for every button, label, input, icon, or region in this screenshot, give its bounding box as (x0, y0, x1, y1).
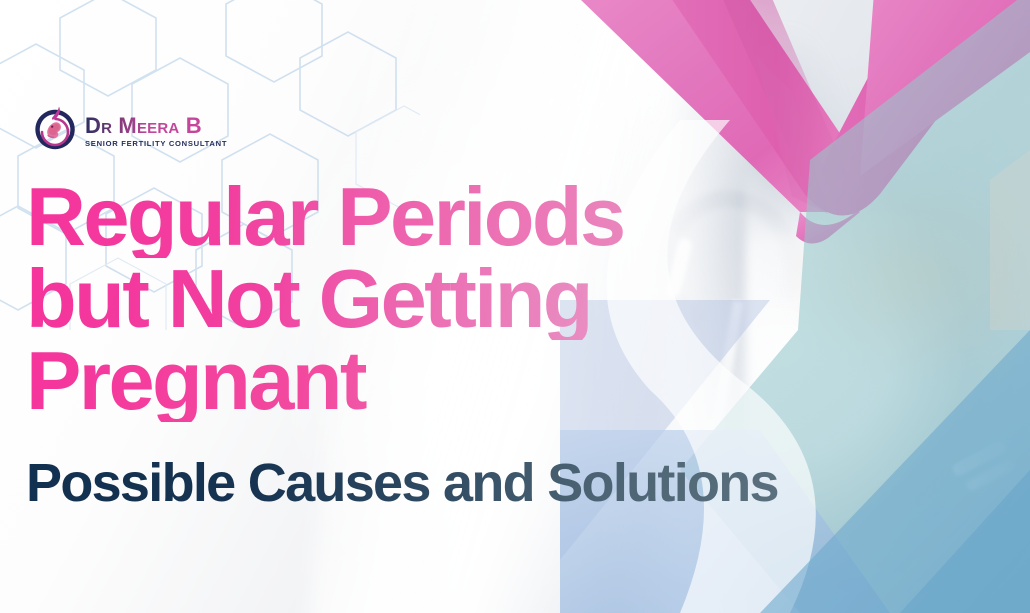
blog-banner: Dr Meera B SENIOR FERTILITY CONSULTANT R… (0, 0, 1030, 613)
title-line-2: but Not Getting (26, 258, 624, 340)
logo-tagline: SENIOR FERTILITY CONSULTANT (85, 140, 227, 148)
fetus-in-circle-logo-icon (32, 105, 78, 155)
logo-text-block: Dr Meera B SENIOR FERTILITY CONSULTANT (85, 113, 227, 148)
logo-name: Dr Meera B (85, 115, 227, 137)
page-title: Regular Periods but Not Getting Pregnant (26, 176, 624, 422)
page-subtitle: Possible Causes and Solutions (26, 452, 778, 514)
glass-diagonal-panels (560, 0, 1030, 613)
title-line-3: Pregnant (26, 340, 624, 422)
title-line-1: Regular Periods (26, 176, 624, 258)
brand-logo[interactable]: Dr Meera B SENIOR FERTILITY CONSULTANT (32, 105, 227, 155)
